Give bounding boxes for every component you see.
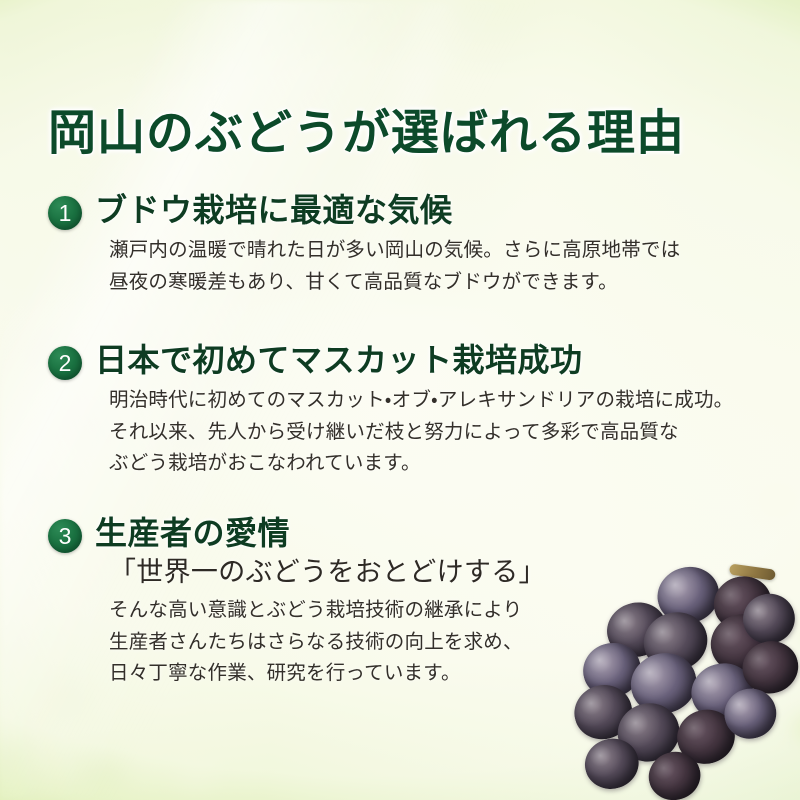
- reason-header: 1 ブドウ栽培に最適な気候: [48, 192, 764, 230]
- reason-body-line: 明治時代に初めてのマスカット・オブ・アレキサンドリアの栽培に成功。: [109, 385, 764, 417]
- reason-header: 3 生産者の愛情: [48, 515, 764, 553]
- reason-body-line: それ以来、先人から受け継いだ枝と努力によって多彩で高品質な: [109, 417, 764, 449]
- reason-title: 生産者の愛情: [95, 515, 290, 552]
- reason-body-line: 昼夜の寒暖差もあり、甘くて高品質なブドウができます。: [109, 267, 764, 299]
- reason-body: 瀬戸内の温暖で晴れた日が多い岡山の気候。さらに高原地帯では 昼夜の寒暖差もあり、…: [109, 235, 764, 298]
- reason-body-line: 日々丁寧な作業、研究を行っています。: [109, 658, 764, 690]
- reason-body: 明治時代に初めてのマスカット・オブ・アレキサンドリアの栽培に成功。 それ以来、先…: [109, 385, 764, 480]
- reason-body-line: そんな高い意識とぶどう栽培技術の継承により: [109, 595, 764, 627]
- reason-quote: 「世界一のぶどうをおとどけする」: [109, 555, 546, 590]
- reason-header: 2 日本で初めてマスカット栽培成功: [48, 342, 764, 380]
- reason-body-line: ぶどう栽培がおこなわれています。: [109, 448, 764, 480]
- poster-content: 岡山のぶどうが選ばれる理由 1 ブドウ栽培に最適な気候 瀬戸内の温暖で晴れた日が…: [0, 0, 800, 800]
- reason-number-badge: 3: [48, 519, 82, 553]
- reason-number-badge: 2: [48, 346, 82, 380]
- reason-item-3: 3 生産者の愛情 「世界一のぶどうをおとどけする」 そんな高い意識とぶどう栽培技…: [48, 515, 764, 690]
- reason-item-2: 2 日本で初めてマスカット栽培成功 明治時代に初めてのマスカット・オブ・アレキサ…: [48, 342, 764, 480]
- promo-poster: 岡山のぶどうが選ばれる理由 1 ブドウ栽培に最適な気候 瀬戸内の温暖で晴れた日が…: [0, 0, 800, 800]
- reason-body: そんな高い意識とぶどう栽培技術の継承により 生産者さんたちはさらなる技術の向上を…: [109, 595, 764, 690]
- reason-item-1: 1 ブドウ栽培に最適な気候 瀬戸内の温暖で晴れた日が多い岡山の気候。さらに高原地…: [48, 192, 764, 298]
- page-title: 岡山のぶどうが選ばれる理由: [48, 108, 685, 160]
- reason-number-badge: 1: [48, 196, 82, 230]
- reason-title: ブドウ栽培に最適な気候: [95, 192, 453, 229]
- reason-body-line: 瀬戸内の温暖で晴れた日が多い岡山の気候。さらに高原地帯では: [109, 235, 764, 267]
- quote-text: 「世界一のぶどうをおとどけする」: [109, 557, 546, 587]
- reason-body-line: 生産者さんたちはさらなる技術の向上を求め、: [109, 627, 764, 659]
- reason-title: 日本で初めてマスカット栽培成功: [95, 342, 583, 379]
